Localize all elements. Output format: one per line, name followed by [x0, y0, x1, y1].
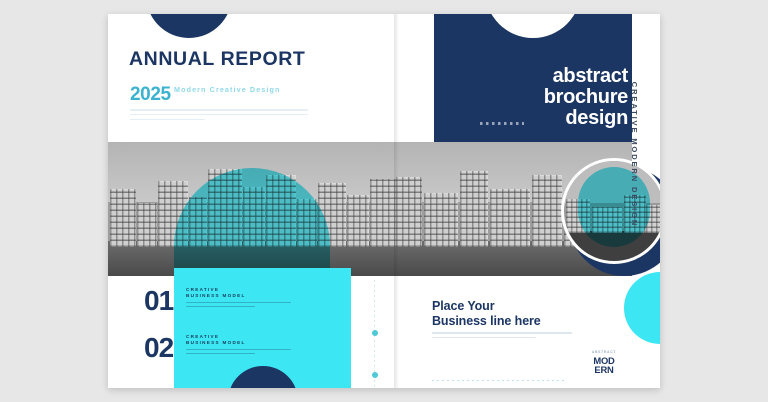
year-subtitle: Modern Creative Design	[174, 85, 280, 95]
brand-logo: ABSTRACT MOD ERN	[582, 350, 626, 374]
year-label: 2025	[130, 84, 171, 106]
navy-bottom-dome-shape	[228, 366, 298, 388]
logo-tagline: ABSTRACT	[582, 350, 626, 354]
building	[460, 171, 488, 247]
cityscape-photo	[108, 142, 396, 276]
building	[424, 193, 458, 247]
brochure-right-page: abstract brochure design	[396, 14, 660, 388]
brochure-left-page: ANNUAL REPORT 2025 Modern Creative Desig…	[108, 14, 396, 388]
text-line	[130, 119, 205, 121]
list-item-number: 01	[144, 285, 173, 317]
side-text-label: CREATIVE MODERN DESIGN	[631, 81, 640, 226]
cyan-edge-circle-shape	[624, 272, 660, 344]
building	[532, 175, 562, 247]
page-title: ANNUAL REPORT	[129, 48, 305, 71]
section-title: Place Your Business line here	[432, 299, 541, 329]
text-line	[130, 109, 308, 111]
cover-title-line-1: abstract	[460, 66, 628, 87]
dashed-accent-shape	[480, 122, 524, 125]
left-intro-paragraph	[130, 109, 308, 123]
divider-dot-icon	[372, 372, 378, 378]
circle-photo-group	[561, 158, 660, 276]
cover-title-line-3: design	[460, 108, 628, 129]
navy-notch-shape	[485, 14, 581, 38]
cyan-content-panel	[174, 268, 351, 388]
building	[137, 203, 157, 247]
building	[396, 177, 422, 247]
building	[490, 189, 530, 247]
list-item-number: 02	[144, 332, 173, 364]
logo-line-2: ERN	[582, 365, 626, 374]
building	[110, 189, 136, 247]
cover-title-line-2: brochure	[460, 87, 628, 108]
circular-photo	[561, 158, 660, 264]
building	[370, 179, 396, 247]
vertical-side-text: CREATIVE MODERN DESIGN	[628, 54, 642, 254]
text-line	[130, 114, 308, 116]
navy-top-arc-shape	[146, 14, 232, 38]
divider-dot-icon	[372, 330, 378, 336]
right-body-paragraph	[432, 332, 572, 341]
text-line	[432, 337, 536, 339]
text-line	[432, 332, 572, 334]
cover-title: abstract brochure design	[460, 66, 628, 129]
footer-dotted-rule	[432, 380, 564, 381]
brochure-spread: ANNUAL REPORT 2025 Modern Creative Desig…	[108, 14, 660, 388]
building	[347, 195, 369, 247]
